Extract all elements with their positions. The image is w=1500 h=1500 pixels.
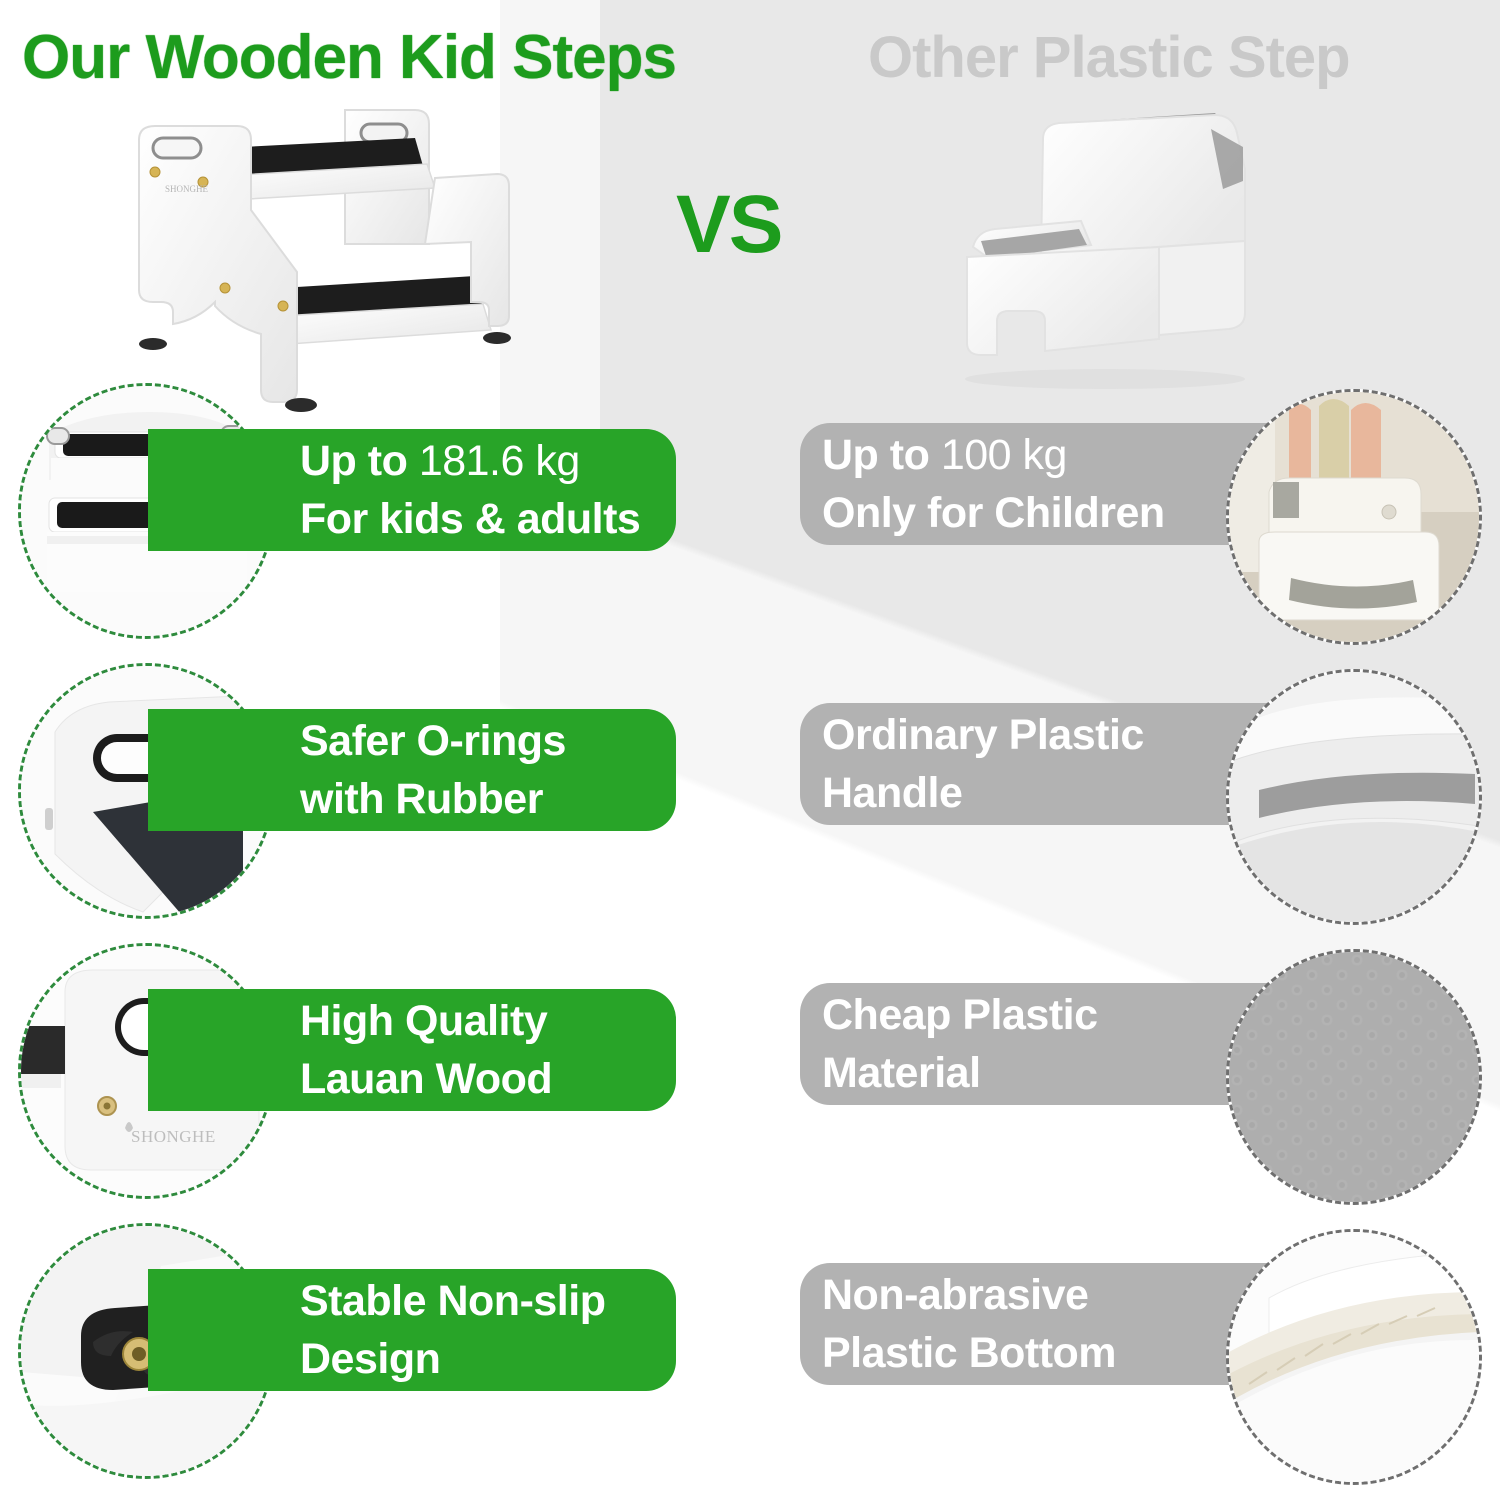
- pill-line-1: Up to 181.6 kg: [300, 432, 676, 490]
- pill-label: Up to: [300, 437, 407, 485]
- comparison-row-3: SHONGHE High Quality Lauan Wood Cheap Pl…: [0, 935, 1500, 1215]
- plastic-step-stool-image: [915, 95, 1295, 395]
- pill-line-1: High Quality: [300, 992, 676, 1050]
- feature-pill-nonslip-good: Stable Non-slip Design: [148, 1269, 676, 1391]
- svg-text:SHONGHE: SHONGHE: [131, 1127, 216, 1146]
- pill-line-1: Stable Non-slip: [300, 1272, 676, 1330]
- pill-label: Ordinary Plastic: [822, 711, 1144, 759]
- pill-label: Non-abrasive: [822, 1271, 1088, 1319]
- comparison-row-1: Up to 181.6 kg For kids & adults Up to 1…: [0, 375, 1500, 655]
- right-column-title: Other Plastic Step: [868, 24, 1350, 91]
- feature-pill-capacity-good: Up to 181.6 kg For kids & adults: [148, 429, 676, 551]
- svg-text:SHONGHE: SHONGHE: [165, 184, 209, 194]
- pill-line-1: Safer O-rings: [300, 712, 676, 770]
- thumb-plastic-handle: [1226, 669, 1482, 925]
- thumb-plastic-bottom-edge: [1226, 1229, 1482, 1485]
- pill-line-2: Design: [300, 1330, 676, 1388]
- feature-pill-material-bad: Cheap Plastic Material: [800, 983, 1300, 1105]
- pill-value: 100 kg: [941, 431, 1067, 479]
- vs-badge: VS: [676, 178, 781, 272]
- feature-pill-handle-bad: Ordinary Plastic Handle: [800, 703, 1300, 825]
- comparison-infographic: Our Wooden Kid Steps Other Plastic Step …: [0, 0, 1500, 1500]
- pill-label: Stable Non-slip: [300, 1277, 605, 1325]
- feature-pill-capacity-bad: Up to 100 kg Only for Children: [800, 423, 1300, 545]
- pill-line-2: For kids & adults: [300, 490, 676, 548]
- thumb-dimpled-plastic-texture: [1226, 949, 1482, 1205]
- pill-label: Up to: [822, 431, 929, 479]
- pill-line-1: Ordinary Plastic: [822, 706, 1300, 764]
- pill-label: High Quality: [300, 997, 547, 1045]
- pill-line-1: Non-abrasive: [822, 1266, 1300, 1324]
- wooden-step-stool-image: SHONGHE: [105, 100, 525, 420]
- comparison-row-2: Safer O-rings with Rubber Ordinary Plast…: [0, 655, 1500, 935]
- pill-value: 181.6 kg: [419, 437, 580, 485]
- feature-pill-material-good: High Quality Lauan Wood: [148, 989, 676, 1111]
- pill-line-1: Cheap Plastic: [822, 986, 1300, 1044]
- left-column-title: Our Wooden Kid Steps: [22, 22, 676, 93]
- comparison-row-4: Stable Non-slip Design Non-abrasive Plas…: [0, 1215, 1500, 1495]
- pill-line-1: Up to 100 kg: [822, 426, 1300, 484]
- pill-label: Cheap Plastic: [822, 991, 1098, 1039]
- pill-line-2: with Rubber: [300, 770, 676, 828]
- pill-line-2: Lauan Wood: [300, 1050, 676, 1108]
- pill-label: Safer O-rings: [300, 717, 566, 765]
- thumb-child-feet-on-plastic-step: [1226, 389, 1482, 645]
- feature-pill-nonslip-bad: Non-abrasive Plastic Bottom: [800, 1263, 1300, 1385]
- feature-pill-handle-good: Safer O-rings with Rubber: [148, 709, 676, 831]
